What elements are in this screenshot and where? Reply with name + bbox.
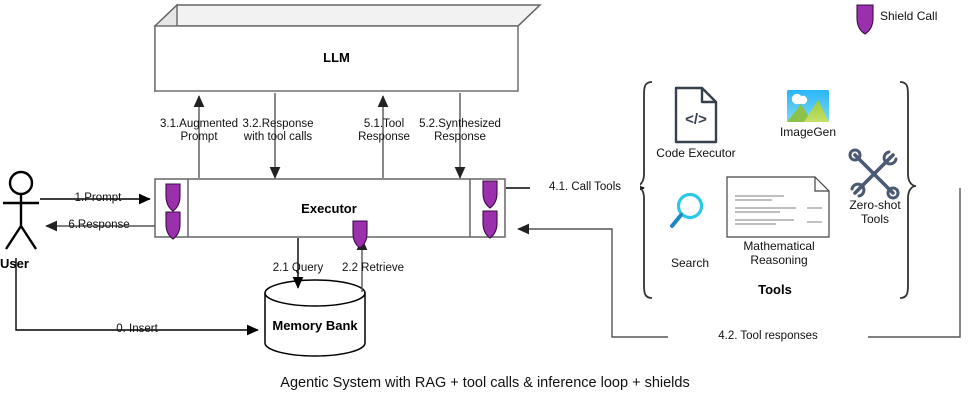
edge-insert-line [16,258,258,330]
tool-label-search: Search [655,256,725,270]
user-figure-shape [3,172,39,249]
memory-bank-label: Memory Bank [265,318,365,333]
edge-label-call-tools: 4.1. Call Tools [530,181,640,194]
edge-label-response-tool-calls: 3.2.Response with tool calls [222,118,334,144]
edge-label-prompt: 1.Prompt [48,192,148,205]
edge-label-query: 2.1 Query [258,262,338,275]
diagram-caption: Agentic System with RAG + tool calls & i… [0,375,970,391]
user-label: User [0,256,44,271]
crossed-wrenches-icon [850,150,898,198]
tool-label-imagegen: ImageGen [768,125,848,139]
tools-group-label: Tools [700,282,850,297]
math-document-icon [727,177,829,237]
svg-text:</>: </> [685,111,707,128]
tool-label-zero-shot-tools: Zero-shot Tools [840,198,910,226]
edge-label-retrieve: 2.2 Retrieve [330,262,416,275]
magnifier-icon [672,195,702,227]
shield-icon-memory [353,221,367,248]
tool-label-code-executor: Code Executor [646,146,746,160]
legend-shield-label: Shield Call [880,9,970,23]
llm-box-shape [155,5,540,91]
shield-icon-legend [857,5,873,34]
executor-label: Executor [188,201,470,216]
code-document-icon: </> [676,88,716,142]
image-gen-icon [787,90,829,122]
diagram-canvas: </> [0,0,970,411]
llm-label: LLM [155,50,518,65]
tools-brace-right [900,82,916,298]
edge-label-tool-responses: 4.2. Tool responses [668,330,868,343]
tool-label-math-reasoning: Mathematical Reasoning [728,239,830,267]
edge-label-insert: 0. Insert [82,323,192,336]
edge-label-synthesized-response: 5.2.Synthesized Response [404,118,516,144]
edge-label-response: 6.Response [44,219,154,232]
